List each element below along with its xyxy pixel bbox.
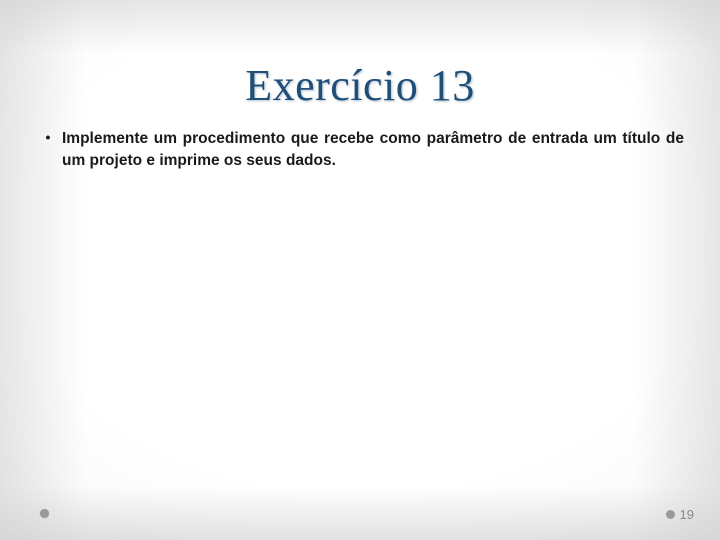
slide-body: • Implemente um procedimento que recebe … <box>34 128 684 172</box>
footer-right-bullet-dot-icon <box>666 510 675 519</box>
bullet-dot-icon: • <box>34 128 62 148</box>
footer-left-bullet-dot-icon <box>40 509 49 518</box>
page-number: 19 <box>680 507 694 522</box>
slide-canvas: Exercício 13 • Implemente um procediment… <box>0 0 720 540</box>
page-number-group: 19 <box>666 507 694 522</box>
list-item: • Implemente um procedimento que recebe … <box>34 128 684 172</box>
page-title: Exercício 13 <box>0 62 720 110</box>
list-item-text: Implemente um procedimento que recebe co… <box>62 128 684 172</box>
